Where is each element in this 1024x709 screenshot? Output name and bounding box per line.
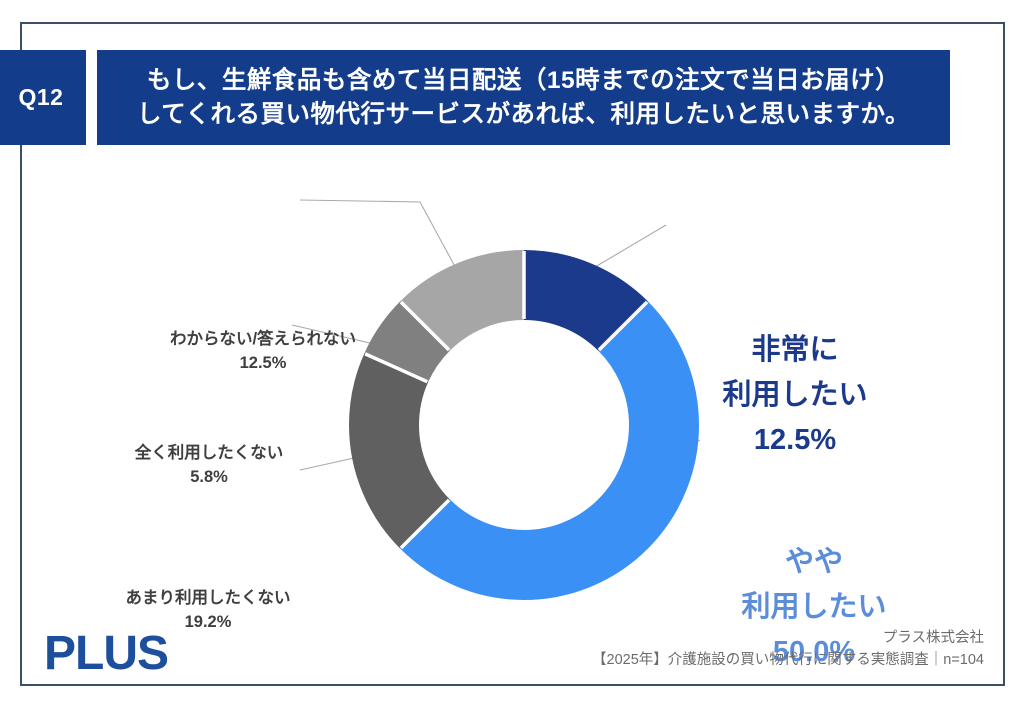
callout-somewhat-label-1: やや — [690, 540, 938, 585]
callout-not-at-all-label: 全く利用したくない — [78, 442, 340, 466]
callout-very-label-2: 利用したい — [672, 373, 918, 418]
plus-logo: PLUS — [44, 630, 168, 678]
footer-company: プラス株式会社 — [592, 628, 984, 650]
question-number-label: Q12 — [19, 84, 64, 111]
slide-canvas: Q12 もし、生鮮食品も含めて当日配送（15時までの注文で当日お届け） してくれ… — [0, 0, 1024, 709]
callout-very-value: 12.5% — [672, 418, 918, 463]
callout-dont-know-label: わからない/答えられない — [118, 328, 408, 352]
footer-survey: 【2025年】介護施設の買い物代行に関する実態調査｜n=104 — [592, 650, 984, 672]
footer-attribution: プラス株式会社 【2025年】介護施設の買い物代行に関する実態調査｜n=104 — [592, 628, 984, 672]
question-number-badge: Q12 — [0, 50, 86, 145]
leader-line-very — [590, 225, 666, 270]
callout-not-at-all-value: 5.8% — [78, 466, 340, 490]
callout-very-label-1: 非常に — [672, 328, 918, 373]
callout-dont-know-value: 12.5% — [118, 352, 408, 376]
question-title-line-2: してくれる買い物代行サービスがあれば、利用したいと思いますか。 — [137, 98, 910, 131]
question-title-line-1: もし、生鮮食品も含めて当日配送（15時までの注文で当日お届け） — [147, 64, 900, 97]
callout-dont-know: わからない/答えられない 12.5% — [118, 328, 408, 376]
callout-not-at-all: 全く利用したくない 5.8% — [78, 442, 340, 490]
callout-somewhat-label-2: 利用したい — [690, 585, 938, 630]
question-title-band: もし、生鮮食品も含めて当日配送（15時までの注文で当日お届け） してくれる買い物… — [97, 50, 950, 145]
donut-chart: わからない/答えられない 12.5% 全く利用したくない 5.8% あまり利用し… — [0, 150, 1024, 620]
callout-not-much-label: あまり利用したくない — [70, 587, 346, 611]
callout-very: 非常に 利用したい 12.5% — [672, 328, 918, 463]
